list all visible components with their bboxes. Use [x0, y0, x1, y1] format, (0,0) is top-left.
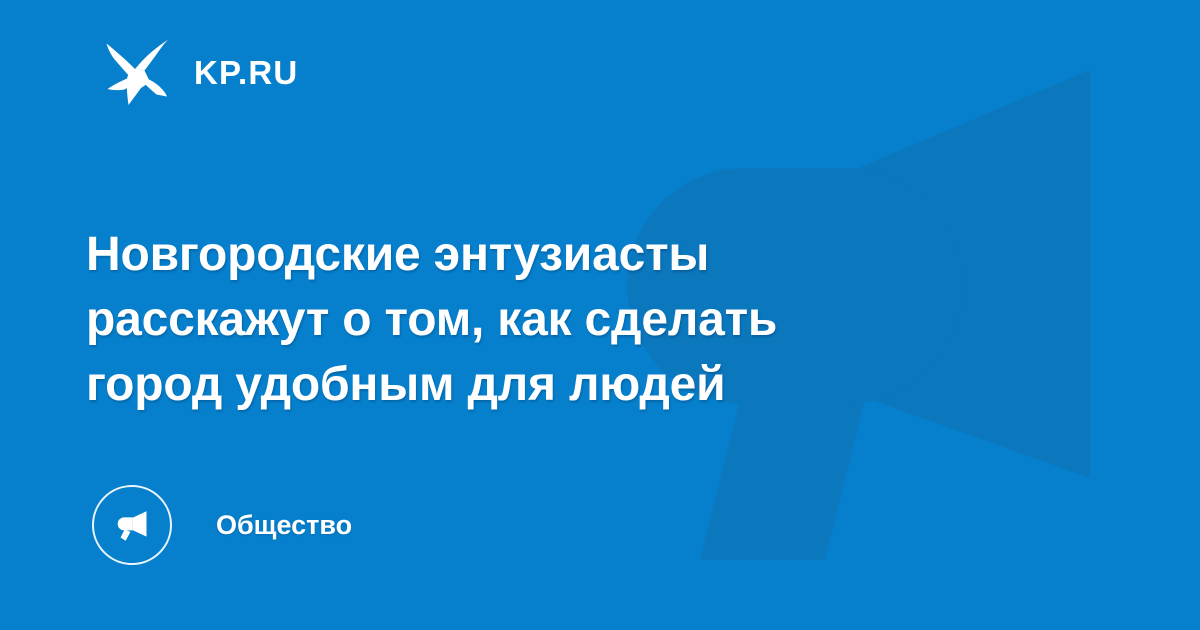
- megaphone-icon: [112, 505, 152, 545]
- category-label: Общество: [216, 512, 352, 539]
- headline-line-3: город удобным для людей: [86, 352, 986, 417]
- headline: Новгородские энтузиасты расскажут о том,…: [86, 222, 986, 417]
- category-badge[interactable]: Общество: [92, 485, 352, 565]
- brand-logo[interactable]: KP.RU: [104, 36, 298, 108]
- headline-line-2: расскажут о том, как сделать: [86, 287, 986, 352]
- share-card: KP.RU Новгородские энтузиасты расскажут …: [0, 0, 1200, 630]
- headline-line-1: Новгородские энтузиасты: [86, 222, 986, 287]
- brand-name: KP.RU: [194, 56, 298, 89]
- category-icon-circle: [92, 485, 172, 565]
- swallow-bird-icon: [104, 37, 172, 107]
